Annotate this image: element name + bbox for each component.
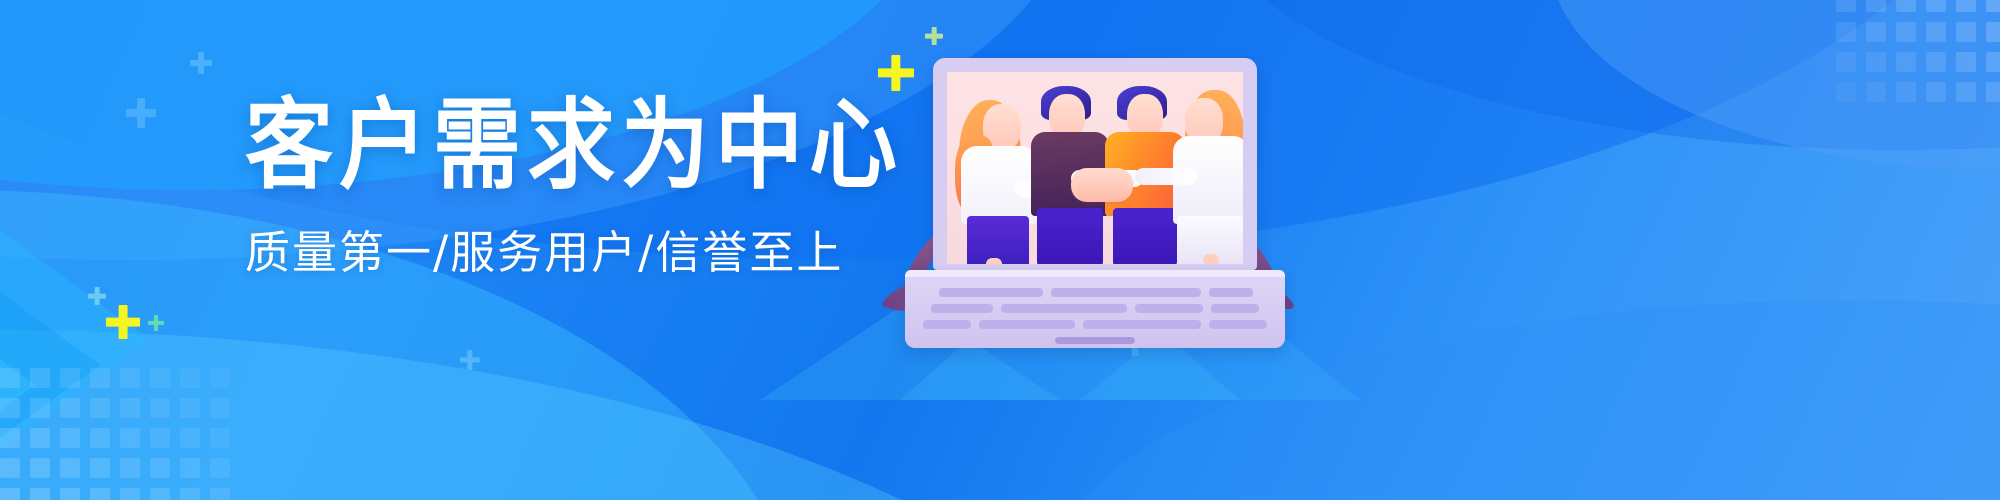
keyboard-key (979, 320, 1075, 329)
grid-dot (60, 368, 80, 388)
grid-dot (30, 398, 50, 418)
grid-dot (0, 488, 20, 500)
grid-dot (1896, 52, 1916, 72)
keyboard-key (923, 320, 971, 329)
plus-icon-small-yellow (925, 27, 943, 45)
grid-dot (1986, 82, 2000, 102)
grid-dot (1866, 82, 1886, 102)
grid-dot (90, 488, 110, 500)
plus-icon-faint-bottom-center (460, 350, 480, 370)
keyboard-key (1211, 304, 1259, 313)
grid-dot (120, 398, 140, 418)
grid-dot (60, 458, 80, 478)
laptop-touchpad (1055, 337, 1135, 344)
grid-dot (30, 368, 50, 388)
grid-dot (1836, 0, 1856, 12)
grid-dot (1986, 52, 2000, 72)
keyboard-key (1083, 320, 1201, 329)
laptop-lid (933, 58, 1257, 270)
plus-icon-yellow-left (106, 305, 140, 339)
banner-subheadline: 质量第一/服务用户/信誉至上 (245, 230, 865, 275)
plus-icon-faint-left (126, 98, 156, 128)
grid-dot (1836, 82, 1856, 102)
grid-dot (1866, 0, 1886, 12)
grid-dot (1926, 0, 1946, 12)
laptop-illustration (905, 58, 1285, 348)
stacked-hands-lower (1077, 180, 1129, 202)
grid-dot (120, 368, 140, 388)
grid-dot (120, 458, 140, 478)
grid-dot (180, 458, 200, 478)
grid-dot (60, 488, 80, 500)
grid-dot (0, 458, 20, 478)
laptop-screen (947, 72, 1243, 264)
keyboard-key (939, 288, 1043, 297)
grid-dot (210, 368, 230, 388)
person-4-foot (1203, 254, 1219, 264)
grid-dot (180, 488, 200, 500)
grid-dot (180, 428, 200, 448)
grid-dot (1926, 52, 1946, 72)
grid-dot (60, 398, 80, 418)
grid-dot (1926, 22, 1946, 42)
grid-dot (1986, 0, 2000, 12)
grid-dot (90, 398, 110, 418)
grid-dot (150, 488, 170, 500)
grid-dot (1866, 52, 1886, 72)
promo-banner: 客户需求为中心 质量第一/服务用户/信誉至上 (0, 0, 2000, 500)
keyboard-key (1209, 320, 1267, 329)
grid-dot (0, 398, 20, 418)
grid-dot (1926, 82, 1946, 102)
person-3-bottom (1113, 208, 1177, 264)
person-1-bottom (967, 216, 1029, 264)
chevron-shape-middle (0, 190, 100, 500)
grid-dot (1956, 52, 1976, 72)
grid-dot (1896, 0, 1916, 12)
person-1-foot (986, 258, 1002, 264)
grid-dot (210, 488, 230, 500)
grid-dot (0, 428, 20, 448)
grid-dot (30, 488, 50, 500)
grid-dot (90, 458, 110, 478)
grid-dot (150, 458, 170, 478)
grid-dot (1956, 0, 1976, 12)
keyboard-key (1001, 304, 1127, 313)
grid-dot (30, 458, 50, 478)
grid-dot (1896, 22, 1916, 42)
grid-dot (90, 428, 110, 448)
grid-dot (120, 488, 140, 500)
grid-dot (210, 398, 230, 418)
grid-dot (210, 428, 230, 448)
person-4-arm (1135, 168, 1197, 185)
person-2-bottom (1037, 208, 1103, 264)
grid-dot (120, 428, 140, 448)
keyboard-key (931, 304, 993, 313)
laptop-base (905, 270, 1285, 348)
plus-icon-small-green-left (148, 315, 164, 331)
keyboard-key (1209, 288, 1253, 297)
grid-dot (0, 368, 20, 388)
grid-dot (1956, 82, 1976, 102)
plus-icon-faint-upper-left (190, 52, 212, 74)
grid-dot (90, 368, 110, 388)
grid-dot (150, 398, 170, 418)
keyboard-key (1051, 288, 1201, 297)
grid-dot (1896, 82, 1916, 102)
plus-icon-small-cyan-left (88, 287, 106, 305)
keyboard-key (1135, 304, 1203, 313)
grid-dot (1956, 22, 1976, 42)
grid-dot (180, 398, 200, 418)
banner-text-block: 客户需求为中心 质量第一/服务用户/信誉至上 (245, 96, 865, 275)
grid-dot (1866, 22, 1886, 42)
grid-dot (1836, 22, 1856, 42)
grid-dot (1986, 22, 2000, 42)
grid-dot (150, 428, 170, 448)
grid-dot (180, 368, 200, 388)
grid-dot (30, 428, 50, 448)
illustration-person-4 (1169, 78, 1243, 264)
grid-dot (60, 428, 80, 448)
grid-dot (1836, 52, 1856, 72)
grid-dot (150, 368, 170, 388)
grid-dot (210, 458, 230, 478)
banner-headline: 客户需求为中心 (245, 96, 865, 195)
